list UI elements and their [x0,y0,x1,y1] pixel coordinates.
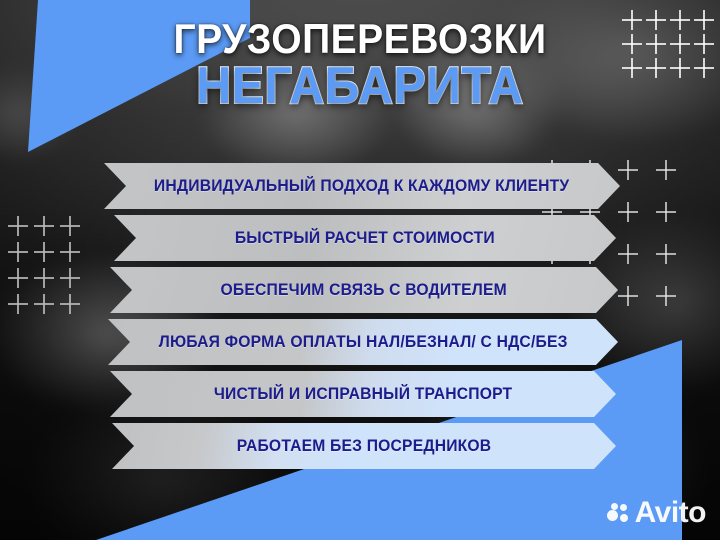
feature-ribbon: РАБОТАЕМ БЕЗ ПОСРЕДНИКОВ [112,423,616,469]
feature-ribbon: ЛЮБАЯ ФОРМА ОПЛАТЫ НАЛ/БЕЗНАЛ/ С НДС/БЕЗ [108,319,618,365]
avito-dots-icon [607,503,629,523]
feature-label: ОБЕСПЕЧИМ СВЯЗЬ С ВОДИТЕЛЕМ [221,281,507,300]
feature-ribbon: ИНДИВИДУАЛЬНЫЙ ПОДХОД К КАЖДОМУ КЛИЕНТУ [104,163,620,209]
feature-ribbon: БЫСТРЫЙ РАСЧЕТ СТОИМОСТИ [114,215,616,261]
feature-list: ИНДИВИДУАЛЬНЫЙ ПОДХОД К КАЖДОМУ КЛИЕНТУБ… [0,163,720,475]
feature-ribbon: ЧИСТЫЙ И ИСПРАВНЫЙ ТРАНСПОРТ [110,371,616,417]
avito-wordmark: Avito [635,498,706,528]
feature-label: ЧИСТЫЙ И ИСПРАВНЫЙ ТРАНСПОРТ [214,385,512,404]
feature-ribbon: ОБЕСПЕЧИМ СВЯЗЬ С ВОДИТЕЛЕМ [110,267,618,313]
feature-label: БЫСТРЫЙ РАСЧЕТ СТОИМОСТИ [235,229,495,248]
title-line-primary: ГРУЗОПЕРЕВОЗКИ [25,18,695,59]
advertisement-banner: ГРУЗОПЕРЕВОЗКИ НЕГАБАРИТА ИНДИВИДУАЛЬНЫЙ… [0,0,720,540]
page-title: ГРУЗОПЕРЕВОЗКИ НЕГАБАРИТА [0,18,720,112]
feature-label: ЛЮБАЯ ФОРМА ОПЛАТЫ НАЛ/БЕЗНАЛ/ С НДС/БЕЗ [159,333,568,352]
avito-watermark: Avito [607,498,706,528]
feature-label: РАБОТАЕМ БЕЗ ПОСРЕДНИКОВ [237,437,492,456]
title-line-secondary: НЕГАБАРИТА [25,61,695,112]
feature-label: ИНДИВИДУАЛЬНЫЙ ПОДХОД К КАЖДОМУ КЛИЕНТУ [154,177,569,196]
